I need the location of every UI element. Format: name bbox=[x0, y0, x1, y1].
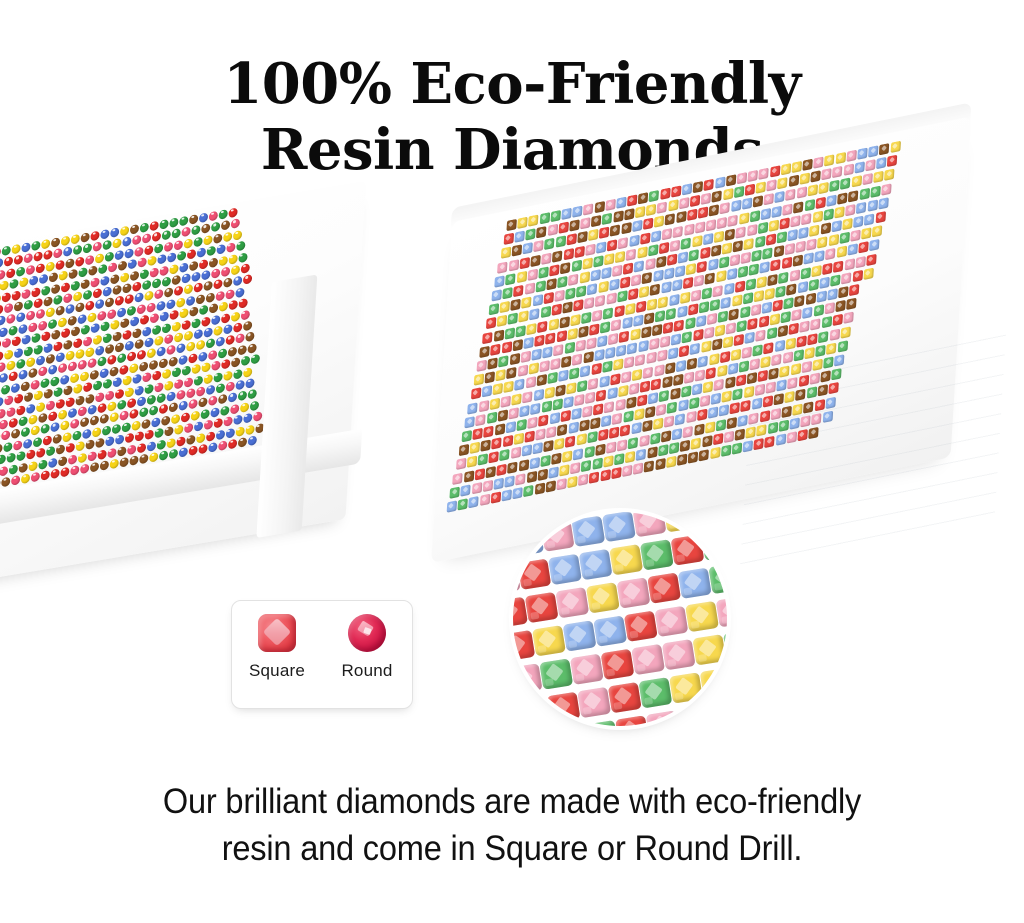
bead bbox=[573, 300, 583, 312]
bead bbox=[469, 496, 479, 508]
bead bbox=[238, 345, 247, 356]
bead bbox=[213, 279, 222, 290]
bead bbox=[677, 305, 687, 317]
bead bbox=[603, 307, 613, 319]
bead bbox=[149, 452, 158, 463]
magnified-gem bbox=[525, 592, 559, 623]
bead bbox=[589, 471, 599, 483]
bead bbox=[120, 226, 129, 237]
bead bbox=[201, 270, 210, 281]
bead bbox=[519, 257, 529, 269]
bead bbox=[88, 358, 97, 369]
bead bbox=[156, 439, 165, 450]
bead bbox=[110, 412, 119, 423]
bead bbox=[100, 368, 109, 379]
bead bbox=[78, 406, 87, 417]
bead bbox=[505, 273, 515, 285]
bead bbox=[61, 236, 70, 247]
bead bbox=[577, 380, 587, 392]
bead bbox=[736, 226, 746, 238]
bead bbox=[184, 330, 193, 341]
bead bbox=[640, 232, 650, 244]
bead bbox=[800, 415, 810, 427]
bead bbox=[144, 291, 153, 302]
bead bbox=[563, 396, 573, 408]
bead bbox=[618, 385, 628, 397]
bead bbox=[816, 290, 826, 302]
bead bbox=[490, 343, 500, 355]
bead bbox=[789, 417, 799, 429]
bead bbox=[450, 486, 460, 498]
bead bbox=[733, 388, 743, 400]
bead bbox=[11, 244, 20, 255]
bead bbox=[584, 445, 594, 457]
bead bbox=[785, 189, 795, 201]
drill-type-round[interactable]: Round bbox=[322, 614, 412, 681]
bead bbox=[147, 441, 156, 452]
bead bbox=[835, 152, 845, 164]
bead bbox=[80, 371, 89, 382]
bead bbox=[794, 295, 804, 307]
bead bbox=[620, 425, 630, 437]
bead bbox=[561, 208, 571, 220]
bead bbox=[726, 174, 736, 186]
bead bbox=[107, 355, 116, 366]
bead bbox=[766, 233, 776, 245]
bead bbox=[166, 391, 175, 402]
bead bbox=[71, 234, 80, 245]
bead bbox=[1, 292, 10, 303]
bead bbox=[21, 242, 30, 253]
bead bbox=[610, 373, 620, 385]
bead bbox=[773, 299, 783, 311]
bead bbox=[152, 371, 161, 382]
bead bbox=[810, 319, 820, 331]
bead bbox=[668, 199, 678, 211]
bead bbox=[130, 224, 139, 235]
bead bbox=[801, 361, 811, 373]
bead bbox=[543, 440, 553, 452]
bead bbox=[725, 376, 735, 388]
bead bbox=[732, 294, 742, 306]
bead bbox=[758, 370, 768, 382]
bead bbox=[560, 262, 570, 274]
bead bbox=[179, 401, 188, 412]
bead bbox=[112, 331, 121, 342]
bead bbox=[483, 480, 493, 492]
bead bbox=[2, 245, 11, 256]
bead bbox=[568, 274, 578, 286]
bead bbox=[494, 423, 504, 435]
bead bbox=[235, 333, 244, 344]
bead bbox=[654, 364, 664, 376]
bead bbox=[110, 366, 119, 377]
bead bbox=[189, 260, 198, 271]
bead bbox=[887, 155, 897, 167]
bead bbox=[144, 337, 153, 348]
bead bbox=[525, 228, 535, 240]
bead bbox=[868, 145, 878, 157]
bead bbox=[493, 329, 503, 341]
bead bbox=[708, 407, 718, 419]
bead bbox=[737, 320, 747, 332]
bead bbox=[245, 332, 254, 343]
bead bbox=[760, 410, 770, 422]
bead bbox=[19, 277, 28, 288]
bead bbox=[681, 385, 691, 397]
bead bbox=[653, 418, 663, 430]
magnified-gem bbox=[533, 512, 567, 519]
bead bbox=[765, 288, 775, 300]
bead bbox=[100, 275, 109, 286]
bead bbox=[58, 456, 67, 467]
bead bbox=[567, 476, 577, 488]
square-gem-icon bbox=[258, 614, 296, 652]
bead bbox=[102, 286, 111, 297]
bead bbox=[105, 297, 114, 308]
bead bbox=[516, 419, 526, 431]
bead bbox=[55, 444, 64, 455]
bead bbox=[787, 377, 797, 389]
bead bbox=[196, 432, 205, 443]
bead bbox=[38, 413, 47, 424]
bead bbox=[725, 228, 735, 240]
bead bbox=[453, 472, 463, 484]
bead bbox=[0, 269, 6, 280]
bead bbox=[130, 316, 139, 327]
bead bbox=[70, 373, 79, 384]
bead bbox=[780, 217, 790, 229]
bead bbox=[828, 382, 838, 394]
bead bbox=[33, 437, 42, 448]
bead bbox=[139, 269, 148, 280]
bead bbox=[28, 414, 37, 425]
bead bbox=[655, 310, 665, 322]
bead bbox=[758, 222, 768, 234]
bead bbox=[605, 199, 615, 211]
bead bbox=[723, 336, 733, 348]
bead bbox=[226, 335, 235, 346]
bead bbox=[92, 427, 101, 438]
bead bbox=[26, 403, 35, 414]
bead bbox=[456, 458, 466, 470]
bead bbox=[31, 425, 40, 436]
bead bbox=[721, 296, 731, 308]
bead bbox=[206, 431, 215, 442]
bead bbox=[802, 307, 812, 319]
bead bbox=[157, 347, 166, 358]
bead bbox=[189, 399, 198, 410]
bead bbox=[553, 344, 563, 356]
bead bbox=[218, 209, 227, 220]
bead bbox=[632, 368, 642, 380]
bead bbox=[475, 468, 485, 480]
bead bbox=[580, 365, 590, 377]
bead bbox=[585, 391, 595, 403]
bead bbox=[488, 451, 498, 463]
bead bbox=[238, 252, 247, 263]
bead bbox=[650, 284, 660, 296]
bead bbox=[55, 398, 64, 409]
bead bbox=[662, 376, 672, 388]
bead bbox=[733, 240, 743, 252]
bead bbox=[768, 422, 778, 434]
bead bbox=[214, 233, 223, 244]
bead bbox=[851, 176, 861, 188]
bead bbox=[843, 164, 853, 176]
bead bbox=[793, 349, 803, 361]
bead bbox=[13, 440, 22, 451]
bead bbox=[632, 220, 642, 232]
bead bbox=[634, 408, 644, 420]
bead bbox=[36, 448, 45, 459]
bead bbox=[18, 416, 27, 427]
bead bbox=[129, 363, 138, 374]
drill-type-square[interactable]: Square bbox=[232, 614, 322, 681]
bead bbox=[53, 387, 62, 398]
bead bbox=[601, 267, 611, 279]
bead bbox=[502, 435, 512, 447]
bead bbox=[683, 425, 693, 437]
bead bbox=[634, 260, 644, 272]
bead bbox=[772, 353, 782, 365]
bead bbox=[6, 268, 15, 279]
bead bbox=[159, 311, 168, 322]
bead bbox=[102, 333, 111, 344]
bead bbox=[191, 271, 200, 282]
bead bbox=[230, 404, 239, 415]
bead bbox=[110, 273, 119, 284]
bead bbox=[486, 466, 496, 478]
bead bbox=[193, 421, 202, 432]
bead bbox=[637, 394, 647, 406]
bead bbox=[9, 371, 18, 382]
bead bbox=[53, 295, 62, 306]
bead bbox=[48, 365, 57, 376]
bead bbox=[105, 251, 114, 262]
bead bbox=[679, 197, 689, 209]
bead bbox=[519, 405, 529, 417]
bead bbox=[826, 194, 836, 206]
bead bbox=[595, 295, 605, 307]
bead bbox=[775, 191, 785, 203]
bead bbox=[0, 454, 6, 465]
bead bbox=[226, 289, 235, 300]
bead bbox=[58, 409, 67, 420]
bead bbox=[617, 439, 627, 451]
bead bbox=[866, 253, 876, 265]
bead bbox=[467, 456, 477, 468]
bead bbox=[248, 435, 257, 446]
bead bbox=[583, 203, 593, 215]
bead bbox=[623, 411, 633, 423]
bead bbox=[549, 412, 559, 424]
bead bbox=[134, 339, 143, 350]
bead bbox=[468, 402, 478, 414]
bead bbox=[852, 270, 862, 282]
bead bbox=[137, 442, 146, 453]
bead bbox=[646, 352, 656, 364]
bead bbox=[139, 454, 148, 465]
bead bbox=[127, 305, 136, 316]
bead bbox=[655, 458, 665, 470]
bead bbox=[701, 341, 711, 353]
bead bbox=[201, 362, 210, 373]
bead bbox=[777, 379, 787, 391]
bead bbox=[23, 438, 32, 449]
bead bbox=[849, 284, 859, 296]
bead bbox=[509, 353, 519, 365]
bead bbox=[65, 350, 74, 361]
bead bbox=[236, 287, 245, 298]
bead bbox=[0, 258, 4, 269]
headline-line-1: 100% Eco-Friendly bbox=[223, 51, 800, 117]
bead bbox=[503, 381, 513, 393]
magnified-gem bbox=[647, 572, 681, 603]
bead bbox=[1, 338, 10, 349]
bead bbox=[627, 194, 637, 206]
bead bbox=[510, 299, 520, 311]
bead bbox=[169, 356, 178, 367]
bead bbox=[554, 438, 564, 450]
bead bbox=[690, 343, 700, 355]
bead bbox=[216, 290, 225, 301]
bead bbox=[115, 435, 124, 446]
bead bbox=[137, 304, 146, 315]
bead bbox=[594, 201, 604, 213]
bead bbox=[659, 390, 669, 402]
bead bbox=[653, 270, 663, 282]
bead bbox=[139, 315, 148, 326]
bead bbox=[65, 443, 74, 454]
bead bbox=[85, 347, 94, 358]
bead bbox=[179, 262, 188, 273]
magnified-gem bbox=[640, 539, 674, 570]
bead bbox=[582, 257, 592, 269]
magnified-gem bbox=[517, 559, 551, 590]
bead bbox=[823, 356, 833, 368]
bead bbox=[531, 348, 541, 360]
bead bbox=[713, 285, 723, 297]
bead bbox=[523, 485, 533, 497]
bead bbox=[586, 337, 596, 349]
bead bbox=[6, 406, 15, 417]
bead bbox=[688, 451, 698, 463]
bead bbox=[550, 210, 560, 222]
bead bbox=[169, 264, 178, 275]
bead bbox=[803, 253, 813, 265]
bead bbox=[859, 187, 869, 199]
bead bbox=[172, 275, 181, 286]
bead bbox=[201, 316, 210, 327]
bead bbox=[87, 451, 96, 462]
bead bbox=[642, 272, 652, 284]
bead bbox=[596, 389, 606, 401]
bead bbox=[700, 247, 710, 259]
bead bbox=[693, 181, 703, 193]
bead bbox=[547, 372, 557, 384]
bead bbox=[808, 427, 818, 439]
bead bbox=[557, 424, 567, 436]
bead bbox=[865, 159, 875, 171]
magnified-gem bbox=[669, 672, 703, 703]
bead bbox=[819, 276, 829, 288]
bead bbox=[750, 210, 760, 222]
bead bbox=[243, 367, 252, 378]
bead bbox=[548, 318, 558, 330]
bead bbox=[525, 377, 535, 389]
bead bbox=[625, 451, 635, 463]
bead bbox=[716, 271, 726, 283]
bead bbox=[161, 369, 170, 380]
round-gem-icon bbox=[348, 614, 386, 652]
bead bbox=[6, 453, 15, 464]
bead bbox=[644, 460, 654, 472]
bead bbox=[779, 271, 789, 283]
bead bbox=[85, 301, 94, 312]
bead bbox=[117, 446, 126, 457]
magnified-gem bbox=[633, 512, 667, 537]
bead bbox=[240, 309, 249, 320]
bead bbox=[598, 281, 608, 293]
bead bbox=[643, 218, 653, 230]
bead bbox=[75, 349, 84, 360]
bead bbox=[711, 245, 721, 257]
bead bbox=[884, 169, 894, 181]
bead bbox=[630, 328, 640, 340]
bead bbox=[179, 447, 188, 458]
bead bbox=[840, 326, 850, 338]
bead bbox=[78, 360, 87, 371]
bead bbox=[792, 403, 802, 415]
bead bbox=[213, 326, 222, 337]
bead bbox=[491, 437, 501, 449]
bead bbox=[53, 433, 62, 444]
bead bbox=[671, 185, 681, 197]
bead bbox=[776, 285, 786, 297]
bead bbox=[43, 250, 52, 261]
bead bbox=[137, 257, 146, 268]
bead bbox=[38, 320, 47, 331]
bead bbox=[65, 304, 74, 315]
magnified-gem bbox=[708, 563, 727, 594]
bead bbox=[801, 213, 811, 225]
bead bbox=[38, 366, 47, 377]
bead bbox=[592, 309, 602, 321]
bead bbox=[837, 340, 847, 352]
bead bbox=[824, 154, 834, 166]
bead bbox=[142, 326, 151, 337]
bead bbox=[805, 293, 815, 305]
bead bbox=[764, 342, 774, 354]
bead bbox=[608, 333, 618, 345]
bead bbox=[208, 349, 217, 360]
drill-type-row: Square Round bbox=[232, 614, 412, 681]
bead bbox=[122, 329, 131, 340]
bead bbox=[734, 186, 744, 198]
bead bbox=[515, 473, 525, 485]
bead bbox=[641, 326, 651, 338]
bead bbox=[188, 445, 197, 456]
bead bbox=[238, 437, 247, 448]
bead bbox=[539, 212, 549, 224]
bead bbox=[818, 330, 828, 342]
bead bbox=[498, 355, 508, 367]
bead bbox=[593, 255, 603, 267]
bead bbox=[19, 370, 28, 381]
bead bbox=[80, 278, 89, 289]
bead bbox=[748, 318, 758, 330]
